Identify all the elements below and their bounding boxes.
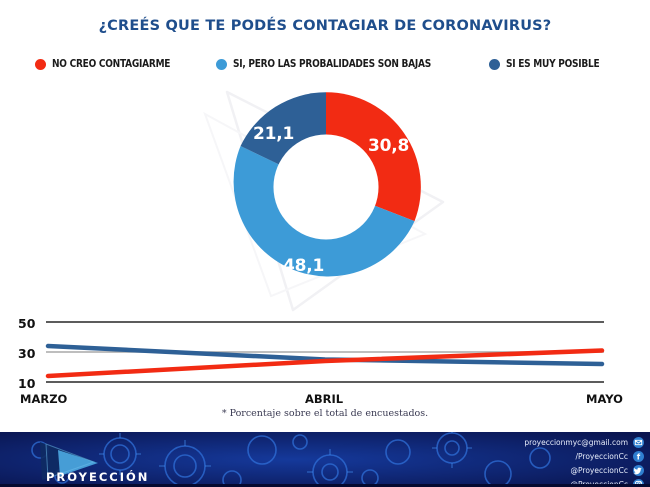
social-handle: /ProyeccionCc <box>575 452 628 461</box>
x-axis-tick-mayo: MAYO <box>586 392 623 406</box>
circle-marker-icon <box>216 59 227 70</box>
legend-item-no-creo[interactable]: NO CREO CONTAGIARME <box>35 58 189 70</box>
infographic-canvas: ¿CREÉS QUE TE PODÉS CONTAGIAR DE CORONAV… <box>0 0 650 487</box>
donut-chart: 30,8 21,1 48,1 <box>175 84 475 316</box>
line-chart-svg <box>0 308 650 400</box>
footnote: * Porcentaje sobre el total de encuestad… <box>0 408 650 419</box>
circle-marker-icon <box>35 59 46 70</box>
page-title: ¿CREÉS QUE TE PODÉS CONTAGIAR DE CORONAV… <box>0 18 650 34</box>
x-axis-tick-marzo: MARZO <box>20 392 67 406</box>
legend-item-muy-posible[interactable]: SI ES MUY POSIBLE <box>489 58 615 70</box>
chart-legend: NO CREO CONTAGIARME SI, PERO LAS PROBALI… <box>0 58 650 70</box>
legend-item-probalidades-bajas[interactable]: SI, PERO LAS PROBALIDADES SON BAJAS <box>216 58 463 70</box>
donut-svg <box>223 84 429 290</box>
donut-hole <box>273 134 378 239</box>
social-row-facebook[interactable]: /ProyeccionCc f <box>575 450 644 462</box>
brand-name: PROYECCIÓN <box>46 470 149 484</box>
social-handle: @ProyeccionCc <box>571 466 628 475</box>
facebook-icon[interactable]: f <box>633 451 644 462</box>
svg-text:f: f <box>637 452 641 461</box>
social-links: proyeccionmyc@gmail.com /ProyeccionCc f … <box>524 436 644 487</box>
donut-value-muy-posible: 21,1 <box>253 124 294 144</box>
legend-item-label: SI, PERO LAS PROBALIDADES SON BAJAS <box>233 58 431 70</box>
donut-value-probalidades-bajas: 48,1 <box>283 256 324 276</box>
social-handle: proyeccionmyc@gmail.com <box>524 438 628 447</box>
circle-marker-icon <box>489 59 500 70</box>
twitter-icon[interactable] <box>633 465 644 476</box>
x-axis-tick-abril: ABRIL <box>305 392 343 406</box>
social-row-twitter[interactable]: @ProyeccionCc <box>571 464 644 476</box>
mail-icon[interactable] <box>633 437 644 448</box>
brand-footer: PROYECCIÓN proyeccionmyc@gmail.com /Proy… <box>0 432 650 487</box>
trend-line-chart: 50 30 10 MARZO ABRIL MAYO <box>0 308 650 400</box>
legend-item-label: SI ES MUY POSIBLE <box>506 58 599 70</box>
social-row-email[interactable]: proyeccionmyc@gmail.com <box>524 436 644 448</box>
legend-item-label: NO CREO CONTAGIARME <box>52 58 170 70</box>
donut-value-no-creo: 30,8 <box>368 136 409 156</box>
